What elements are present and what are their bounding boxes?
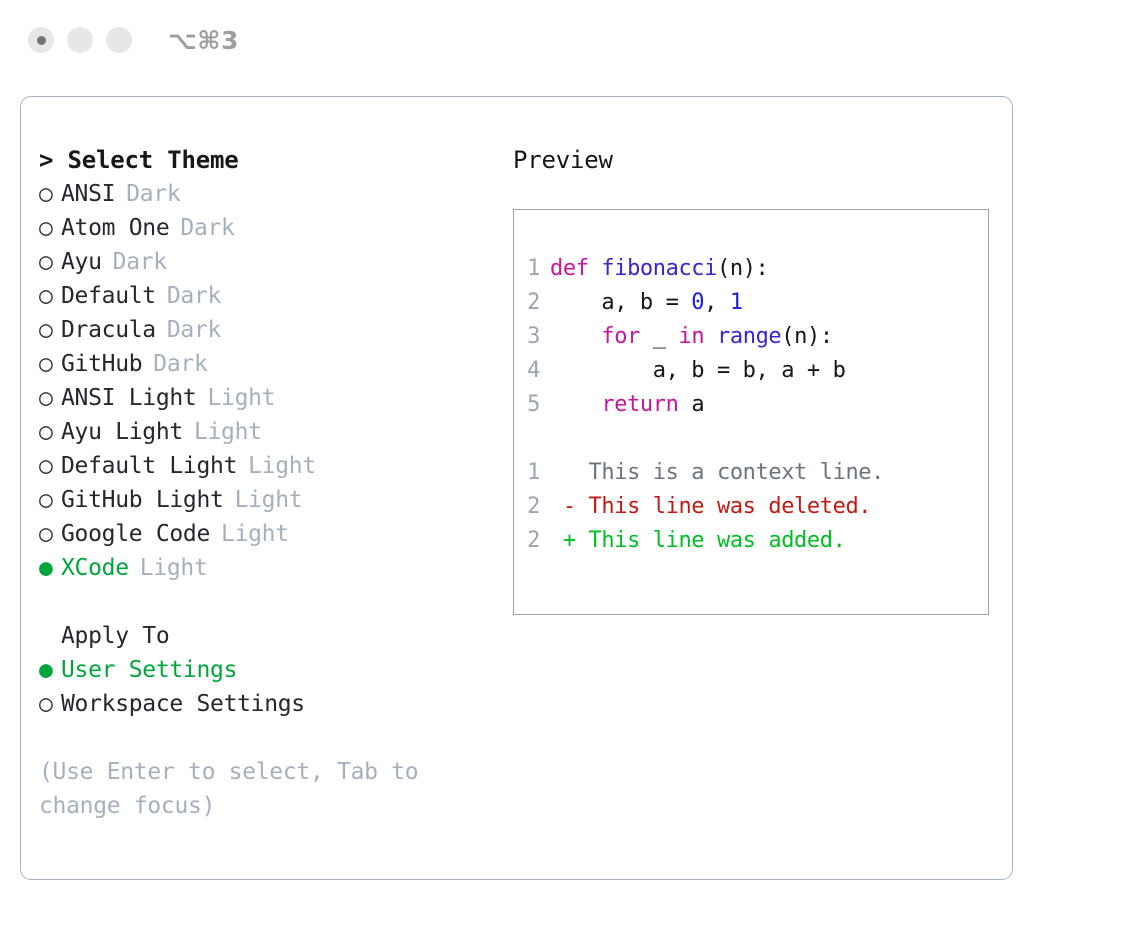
select-theme-heading: > Select Theme (39, 143, 501, 177)
diff-line: 2 + This line was added. (514, 524, 988, 558)
theme-kind-badge: Dark (156, 313, 221, 347)
preview-box: 1def fibonacci(n):2 a, b = 0, 13 for _ i… (513, 209, 989, 615)
diff-line-number: 1 (514, 456, 550, 490)
code-line: 1def fibonacci(n): (514, 252, 988, 286)
radio-unselected-icon: ○ (39, 381, 61, 415)
theme-list-item[interactable]: ○Default LightLight (39, 449, 501, 483)
code-token-plain (704, 324, 717, 349)
theme-list-item[interactable]: ○GitHub LightLight (39, 483, 501, 517)
diff-line: 2 - This line was deleted. (514, 490, 988, 524)
diff-line-text-ctx: This is a context line. (550, 456, 884, 490)
main-panel: > Select Theme ○ANSIDark○Atom OneDark○Ay… (20, 96, 1013, 880)
theme-name-label: Ayu Light (61, 415, 183, 449)
code-token-plain: (n): (781, 324, 832, 349)
line-number: 4 (514, 354, 550, 388)
code-preview: 1def fibonacci(n):2 a, b = 0, 13 for _ i… (514, 252, 988, 422)
keyboard-hint-text: (Use Enter to select, Tab to change focu… (39, 755, 439, 823)
code-token-kw: in (678, 324, 704, 349)
theme-kind-badge: Light (129, 551, 208, 585)
apply-to-option[interactable]: ○Workspace Settings (39, 687, 501, 721)
window-dot-3-icon[interactable] (106, 27, 132, 53)
diff-line-text-del: - This line was deleted. (550, 490, 871, 524)
radio-unselected-icon: ○ (39, 279, 61, 313)
diff-line-text-add: + This line was added. (550, 524, 845, 558)
radio-unselected-icon: ○ (39, 517, 61, 551)
theme-kind-badge: Dark (156, 279, 221, 313)
theme-list-item[interactable]: ○DraculaDark (39, 313, 501, 347)
diff-preview: 1 This is a context line.2 - This line w… (514, 456, 988, 558)
code-line: 2 a, b = 0, 1 (514, 286, 988, 320)
code-token-fn: range (717, 324, 781, 349)
code-line-text: for _ in range(n): (550, 320, 833, 354)
code-token-plain: , (704, 290, 730, 315)
theme-name-label: ANSI (61, 177, 115, 211)
line-number: 3 (514, 320, 550, 354)
keyboard-shortcut-label: ⌥⌘3 (168, 26, 239, 55)
diff-line-number: 2 (514, 524, 550, 558)
code-token-kw: return (601, 392, 678, 417)
theme-list-item[interactable]: ●XCodeLight (39, 551, 501, 585)
code-token-plain: _ (640, 324, 679, 349)
preview-column: Preview 1def fibonacci(n):2 a, b = 0, 13… (501, 97, 1012, 879)
code-line: 4 a, b = b, a + b (514, 354, 988, 388)
radio-unselected-icon: ○ (39, 177, 61, 211)
code-token-plain: a, b = b, a + b (550, 358, 845, 383)
theme-kind-badge: Dark (115, 177, 180, 211)
theme-name-label: Default (61, 279, 156, 313)
code-token-kw: for (601, 324, 640, 349)
window-dot-record-icon[interactable] (28, 27, 54, 53)
window-dot-2-icon[interactable] (67, 27, 93, 53)
theme-list[interactable]: ○ANSIDark○Atom OneDark○AyuDark○DefaultDa… (39, 177, 501, 585)
radio-selected-icon: ● (39, 551, 61, 585)
theme-list-item[interactable]: ○DefaultDark (39, 279, 501, 313)
radio-selected-icon: ● (39, 653, 61, 687)
theme-kind-badge: Light (224, 483, 303, 517)
apply-to-label: User Settings (61, 653, 237, 687)
code-token-fn: fibonacci (601, 256, 717, 281)
code-token-plain: a, b = (550, 290, 691, 315)
theme-kind-badge: Light (210, 517, 289, 551)
code-line-text: return a (550, 388, 704, 422)
line-number: 1 (514, 252, 550, 286)
theme-list-item[interactable]: ○Ayu LightLight (39, 415, 501, 449)
theme-name-label: Ayu (61, 245, 102, 279)
theme-name-label: GitHub (61, 347, 142, 381)
theme-list-item[interactable]: ○AyuDark (39, 245, 501, 279)
record-dot-inner (37, 36, 46, 45)
titlebar: ⌥⌘3 (0, 0, 1140, 80)
preview-heading: Preview (501, 143, 1012, 177)
code-token-num: 1 (730, 290, 743, 315)
line-number: 2 (514, 286, 550, 320)
window-controls (28, 27, 132, 53)
code-line-text: def fibonacci(n): (550, 252, 768, 286)
app-window: ⌥⌘3 > Select Theme ○ANSIDark○Atom OneDar… (0, 0, 1140, 934)
diff-line-number: 2 (514, 490, 550, 524)
apply-to-list[interactable]: ●User Settings○Workspace Settings (39, 653, 501, 721)
theme-kind-badge: Dark (169, 211, 234, 245)
code-line: 5 return a (514, 388, 988, 422)
theme-name-label: GitHub Light (61, 483, 224, 517)
radio-unselected-icon: ○ (39, 687, 61, 721)
apply-to-label: Workspace Settings (61, 687, 305, 721)
radio-unselected-icon: ○ (39, 313, 61, 347)
code-token-num: 0 (691, 290, 704, 315)
preview-divider-space (514, 422, 988, 456)
code-line-text: a, b = 0, 1 (550, 286, 743, 320)
theme-kind-badge: Light (196, 381, 275, 415)
radio-unselected-icon: ○ (39, 347, 61, 381)
theme-kind-badge: Dark (142, 347, 207, 381)
radio-unselected-icon: ○ (39, 211, 61, 245)
theme-list-item[interactable]: ○Google CodeLight (39, 517, 501, 551)
theme-name-label: Default Light (61, 449, 237, 483)
diff-line: 1 This is a context line. (514, 456, 988, 490)
theme-name-label: XCode (61, 551, 129, 585)
theme-list-item[interactable]: ○GitHubDark (39, 347, 501, 381)
theme-kind-badge: Light (183, 415, 262, 449)
code-token-plain: (n): (717, 256, 768, 281)
line-number: 5 (514, 388, 550, 422)
theme-list-item[interactable]: ○ANSIDark (39, 177, 501, 211)
theme-list-item[interactable]: ○ANSI LightLight (39, 381, 501, 415)
code-token-plain: a (678, 392, 704, 417)
theme-name-label: Google Code (61, 517, 210, 551)
code-token-kw: def (550, 256, 601, 281)
theme-name-label: Dracula (61, 313, 156, 347)
radio-unselected-icon: ○ (39, 449, 61, 483)
code-line-text: a, b = b, a + b (550, 354, 845, 388)
code-line: 3 for _ in range(n): (514, 320, 988, 354)
radio-unselected-icon: ○ (39, 245, 61, 279)
apply-to-option[interactable]: ●User Settings (39, 653, 501, 687)
theme-name-label: ANSI Light (61, 381, 196, 415)
theme-selector-column: > Select Theme ○ANSIDark○Atom OneDark○Ay… (21, 97, 501, 879)
code-token-plain (550, 324, 601, 349)
radio-unselected-icon: ○ (39, 415, 61, 449)
theme-list-item[interactable]: ○Atom OneDark (39, 211, 501, 245)
theme-name-label: Atom One (61, 211, 169, 245)
theme-kind-badge: Dark (102, 245, 167, 279)
theme-kind-badge: Light (237, 449, 316, 483)
code-token-plain (550, 392, 601, 417)
radio-unselected-icon: ○ (39, 483, 61, 517)
apply-to-heading: Apply To (39, 619, 501, 653)
